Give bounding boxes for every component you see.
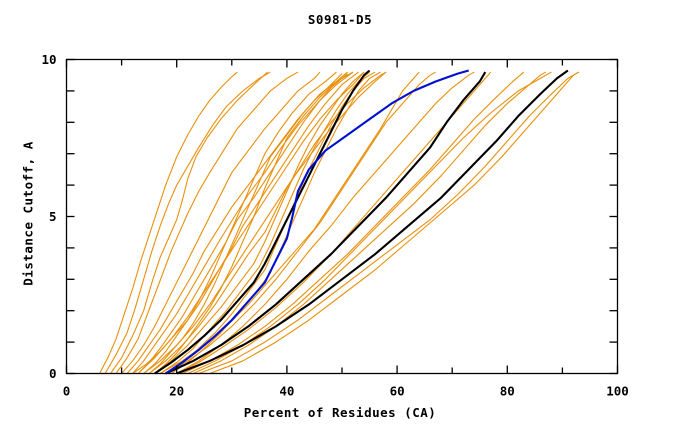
series-line-orange-25 [199,72,579,373]
chart-title: S0981-D5 [0,12,680,27]
y-tick-label-0: 0 [49,366,57,381]
y-tick-label-10: 10 [41,52,56,67]
series-line-orange-27 [210,72,579,373]
x-tick-label-80: 80 [500,384,515,399]
x-tick-label-20: 20 [169,384,184,399]
chart-container: S0981-D5 Distance Cutoff, A Percent of R… [0,0,680,440]
y-axis-label: Distance Cutoff, A [21,114,36,314]
x-axis-label: Percent of Residues (CA) [0,405,680,420]
series-line-orange-23 [182,72,524,373]
series-line-orange-12 [155,72,353,373]
x-tick-label-100: 100 [606,384,629,399]
series-line-orange-01 [100,72,238,373]
series-line-orange-26 [188,72,552,373]
x-tick-label-60: 60 [390,384,405,399]
series-line-orange-10 [133,72,337,373]
y-tick-label-5: 5 [49,209,57,224]
x-tick-label-0: 0 [63,384,71,399]
plot-area: 0204060801000510 [0,0,680,440]
x-tick-label-40: 40 [279,384,294,399]
series-layer [100,70,579,373]
